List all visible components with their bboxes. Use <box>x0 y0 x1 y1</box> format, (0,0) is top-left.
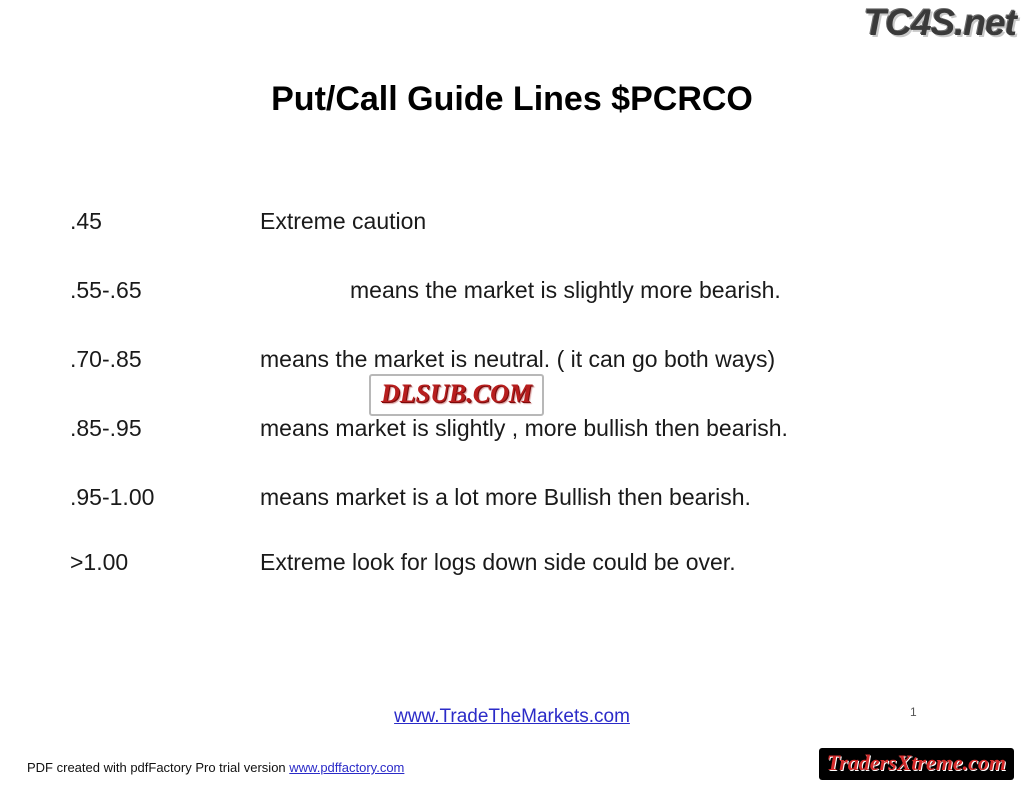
pdf-factory-note: PDF created with pdfFactory Pro trial ve… <box>27 760 404 775</box>
footer-link-tradethemarkets[interactable]: www.TradeTheMarkets.com <box>0 706 1024 728</box>
pdffactory-link[interactable]: www.pdffactory.com <box>289 760 404 775</box>
guideline-level: .45 <box>70 204 260 238</box>
guideline-description: Extreme caution <box>260 208 426 234</box>
page-title: Put/Call Guide Lines $PCRCO <box>0 80 1024 119</box>
guideline-level: .85-.95 <box>70 411 260 445</box>
list-item: .70-.85means the market is neutral. ( it… <box>70 342 970 376</box>
list-item: .55-.65means the market is slightly more… <box>70 273 970 307</box>
brand-tradersxtreme-logo: TradersXtreme.com <box>819 748 1014 780</box>
dlsub-watermark: DLSUB.COM <box>369 374 544 416</box>
guideline-level: .95-1.00 <box>70 480 260 514</box>
guideline-level: >1.00 <box>70 545 260 579</box>
list-item: >1.00Extreme look for logs down side cou… <box>70 545 970 579</box>
guideline-level: .70-.85 <box>70 342 260 376</box>
brand-tc4s-logo: TC4S.net <box>864 2 1016 44</box>
list-item: .45Extreme caution <box>70 204 970 238</box>
guideline-description: means market is a lot more Bullish then … <box>260 484 751 510</box>
guideline-description: means the market is slightly more bearis… <box>260 277 781 303</box>
guideline-description: means the market is neutral. ( it can go… <box>260 346 775 372</box>
guideline-description: Extreme look for logs down side could be… <box>260 549 736 575</box>
list-item: .85-.95means market is slightly , more b… <box>70 411 970 445</box>
guideline-level: .55-.65 <box>70 273 260 307</box>
guideline-description: means market is slightly , more bullish … <box>260 415 788 441</box>
list-item: .95-1.00means market is a lot more Bulli… <box>70 480 970 514</box>
pdf-note-text: PDF created with pdfFactory Pro trial ve… <box>27 760 289 775</box>
page-number: 1 <box>910 705 917 719</box>
